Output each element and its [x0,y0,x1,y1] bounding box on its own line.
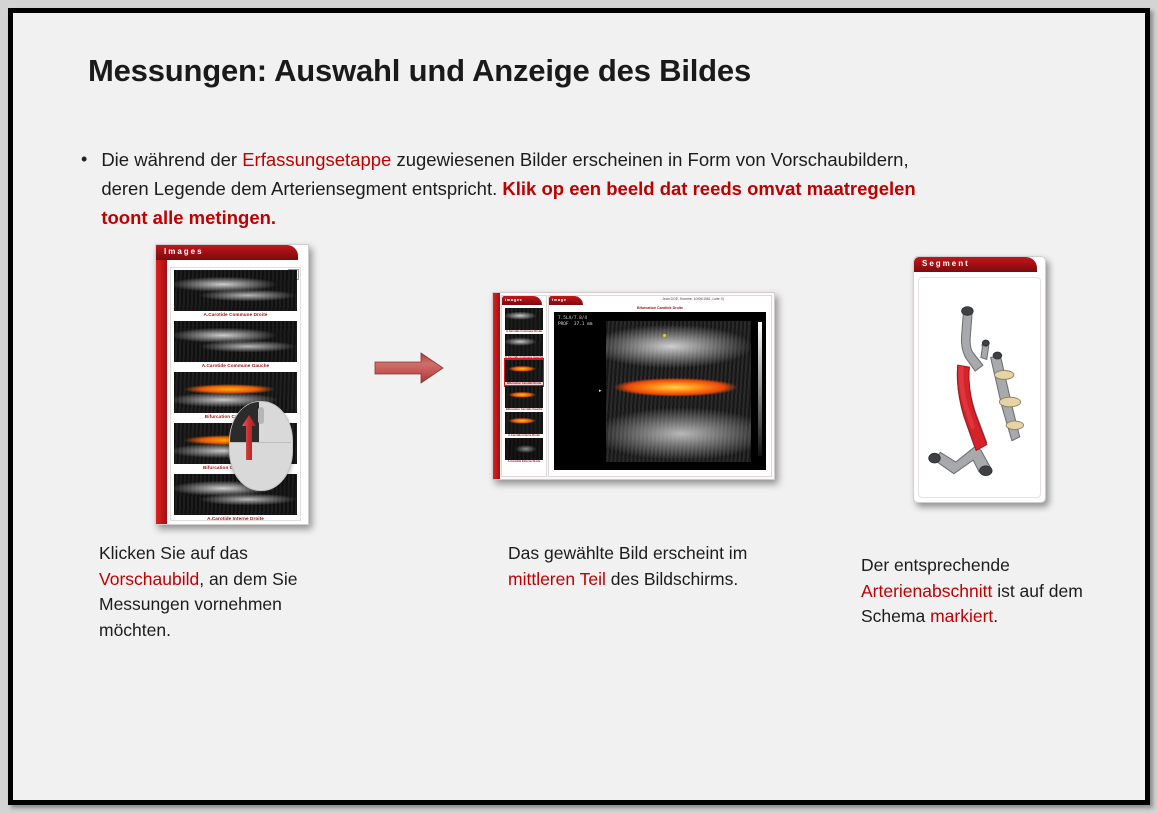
bullet-highlight-erfassungsetappe: Erfassungsetappe [242,149,391,170]
image-viewer-panel[interactable]: Images A.Carotide Commune Droite A.Carot… [492,292,775,480]
artery-schema-svg [919,278,1040,497]
focus-marker-icon [663,334,666,337]
caption-1-part1: Klicken Sie auf das [99,543,248,563]
thumbnail-image[interactable] [174,270,297,311]
panel-red-edge [156,245,167,524]
caption-3-part3: . [993,606,998,626]
depth-marker-icon: ▸ [599,388,602,394]
bullet-paragraph: • Die während der Erfassungsetappe zugew… [81,145,941,232]
list-item[interactable]: A.Carotide Commune Droite [174,270,297,319]
caption-3-highlight-2: markiert [930,606,993,626]
thumbnail-label: A.Carotide Commune Droite [505,330,543,333]
thumbnail-label: A.Carotide Commune Gauche [174,362,297,370]
list-item[interactable]: Bifurcation Carotide Gauche [505,386,543,411]
thumbnail-label: A.Carotide Commune Gauche [505,356,543,359]
ultrasound-canvas[interactable]: 7.5LA/7.8/4 PROF 37.1 mm ▸ [554,312,766,470]
list-item[interactable]: A.Carotide Commune Droite [505,308,543,333]
caption-3-part1: Der entsprechende [861,555,1010,575]
list-item[interactable]: A.Carotide Commune Gauche [174,321,297,370]
viewer-sidebar-header: Images [502,296,542,305]
caption-middle: Das gewählte Bild erscheint im mittleren… [508,541,758,592]
highlighted-segment [957,365,986,450]
thumbnail-label: A.Carotide Interne Droite [174,515,297,521]
viewer-header: Image [549,296,583,305]
ultrasound-annotation-line2: PROF 37.1 mm [558,322,592,328]
carotid-artery-tree-diagram[interactable] [918,277,1041,498]
slide-frame: Messungen: Auswahl und Anzeige des Bilde… [8,8,1150,805]
segment-panel[interactable]: Segment [913,256,1046,503]
bullet-text: Die während der Erfassungsetappe zugewie… [101,145,941,232]
viewer-thumbnail-sidebar[interactable]: Images A.Carotide Commune Droite A.Carot… [501,295,547,477]
thumbnail-label: Bifurcation Carotide Gauche [505,408,543,411]
mouse-divider [229,442,291,443]
thumbnail-image[interactable] [505,412,543,434]
viewer-thumbnail-list[interactable]: A.Carotide Commune Droite A.Carotide Com… [504,307,544,475]
thumbnail-image[interactable] [505,360,543,382]
viewer-main-area[interactable]: Image Jean DOE, Homme, 10/06/1961, Lsite… [548,295,772,477]
page-title: Messungen: Auswahl und Anzeige des Bilde… [88,53,751,89]
thumbnail-image[interactable] [505,334,543,356]
ultrasound-image[interactable] [606,321,751,462]
bullet-marker: • [81,145,87,232]
segment-panel-header: Segment [914,257,1037,272]
viewer-segment-title: Bifurcation Carotide Droite [549,306,771,310]
caption-2-part1: Das gewählte Bild erscheint im [508,543,747,563]
bullet-text-part1: Die während der [101,149,242,170]
caption-3-highlight-1: Arterienabschnitt [861,581,992,601]
caption-right: Der entsprechende Arterienabschnitt ist … [861,553,1091,630]
caption-left: Klicken Sie auf das Vorschaubild, an dem… [99,541,339,643]
thumbnail-label: A.Carotide Interne Droite [505,434,543,437]
thumbnail-image[interactable] [505,438,543,460]
thumbnail-label: A.Carotide Externe Droite [505,460,543,463]
thumbnail-image[interactable] [505,308,543,330]
patient-info: Jean DOE, Homme, 10/06/1961, Lsite 3) [619,297,767,301]
panel-red-edge [493,293,500,479]
list-item[interactable]: A.Carotide Interne Droite [505,412,543,437]
caption-2-highlight: mittleren Teil [508,569,606,589]
caption-2-part2: des Bildschirms. [606,569,738,589]
list-item[interactable]: A.Carotide Commune Gauche [505,334,543,359]
caption-1-highlight: Vorschaubild [99,569,199,589]
thumbnail-image[interactable] [174,321,297,362]
right-arrow-icon [371,349,447,387]
thumbnail-label: A.Carotide Commune Droite [174,311,297,319]
mouse-up-arrow-icon [242,415,256,460]
thumbnail-label: Bifurcation Carotide Droite [505,382,543,385]
list-item[interactable]: A.Carotide Externe Droite [505,438,543,463]
list-item-selected[interactable]: Bifurcation Carotide Droite [505,360,543,385]
mouse-left-click-icon [229,401,291,489]
grayscale-bar [758,322,762,456]
mouse-wheel-icon [258,407,264,424]
thumbnail-image[interactable] [505,386,543,408]
images-panel-header: Images [156,245,298,260]
